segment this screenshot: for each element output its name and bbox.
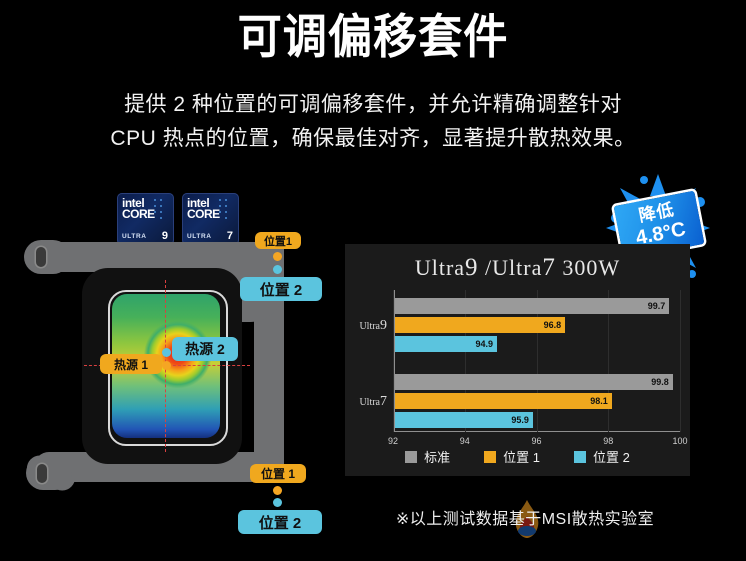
callout-bottom-position-1: 位置 1 — [250, 464, 306, 483]
chart-category-label: Ultra9 — [359, 318, 387, 334]
benchmark-chart-panel: Ultra9 /Ultra7 300W 99.796.894.9Ultra999… — [345, 244, 690, 476]
chart-bar: 96.8 — [395, 317, 566, 333]
heat-source-2-label: 热源 2 — [172, 337, 238, 361]
chart-legend: 标准 位置 1 位置 2 — [345, 447, 690, 466]
chart-title-digit-1: 9 — [465, 254, 479, 281]
chart-title-digit-2: 7 — [542, 254, 556, 281]
chart-x-tick: 94 — [460, 436, 470, 446]
subtitle-line-2: CPU 热点的位置，确保最佳对齐，显著提升散热效果。 — [52, 122, 694, 156]
legend-swatch-position-1 — [484, 451, 496, 463]
chart-category-label: Ultra7 — [359, 394, 387, 410]
badge-dots-icon — [152, 197, 170, 231]
page-subtitle: 提供 2 种位置的可调偏移套件，并允许精确调整针对 CPU 热点的位置，确保最佳… — [52, 88, 694, 156]
bracket-mount-tab-top-left — [24, 240, 70, 274]
chart-bar-value: 99.7 — [648, 298, 666, 314]
chart-bar: 98.1 — [395, 393, 612, 409]
footer-note: ※以上测试数据基于MSI散热实验室 — [345, 505, 705, 529]
chart-gridline — [680, 290, 681, 432]
legend-swatch-position-2 — [574, 451, 586, 463]
bracket-hole-top-left — [36, 247, 46, 267]
chart-bar-value: 96.8 — [544, 317, 562, 333]
legend-item-position-1: 位置 1 — [484, 447, 540, 466]
legend-item-position-2: 位置 2 — [574, 447, 630, 466]
heat-source-1-label: 热源 1 — [100, 354, 162, 374]
legend-label-standard: 标准 — [424, 447, 450, 466]
chart-x-tick: 100 — [672, 436, 687, 446]
bracket-hole-bottom-left — [37, 464, 47, 483]
core-wordmark: CORE — [122, 209, 155, 220]
chart-x-tick: 98 — [603, 436, 613, 446]
chart-bar-value: 99.8 — [651, 374, 669, 390]
callout-bottom-dot-1 — [273, 486, 282, 495]
callout-top-position-1: 位置1 — [255, 232, 301, 249]
chart-x-tick: 92 — [388, 436, 398, 446]
legend-label-position-2: 位置 2 — [593, 447, 630, 466]
chart-bar: 99.8 — [395, 374, 673, 390]
cooler-bracket-diagram: 热源 1 热源 2 位置1 位置 2 位置 1 位置 2 — [22, 232, 340, 532]
chart-title-part-2: Ultra — [492, 255, 542, 280]
chart-x-tick: 96 — [531, 436, 541, 446]
chart-title: Ultra9 /Ultra7 300W — [345, 254, 690, 282]
subtitle-line-1: 提供 2 种位置的可调偏移套件，并允许精确调整针对 — [52, 88, 694, 122]
callout-bottom-dot-2 — [273, 498, 282, 507]
callout-bottom-position-2: 位置 2 — [238, 510, 322, 534]
badge-dots-icon — [217, 197, 235, 231]
legend-item-standard: 标准 — [405, 447, 450, 466]
legend-swatch-standard — [405, 451, 417, 463]
chart-bar-value: 95.9 — [511, 412, 529, 428]
chart-bar: 99.7 — [395, 298, 670, 314]
page-title: 可调偏移套件 — [22, 14, 723, 61]
core-wordmark: CORE — [187, 209, 220, 220]
bracket-mount-tab-bottom-left — [26, 456, 72, 490]
chart-title-wattage: 300W — [562, 255, 620, 280]
chart-bar-value: 98.1 — [590, 393, 608, 409]
callout-top-position-2: 位置 2 — [240, 277, 322, 301]
callout-top-dot-1 — [273, 252, 282, 261]
chart-title-part-1: Ultra — [415, 255, 465, 280]
heat-source-2-marker — [162, 348, 171, 357]
chart-bar-value: 94.9 — [476, 336, 494, 352]
heat-source-1-marker — [162, 361, 171, 370]
callout-top-dot-2 — [273, 265, 282, 274]
chart-plot-area: 99.796.894.9Ultra999.898.195.9Ultra7 929… — [393, 290, 680, 432]
legend-label-position-1: 位置 1 — [503, 447, 540, 466]
chart-bar: 95.9 — [395, 412, 533, 428]
chart-bar: 94.9 — [395, 336, 498, 352]
